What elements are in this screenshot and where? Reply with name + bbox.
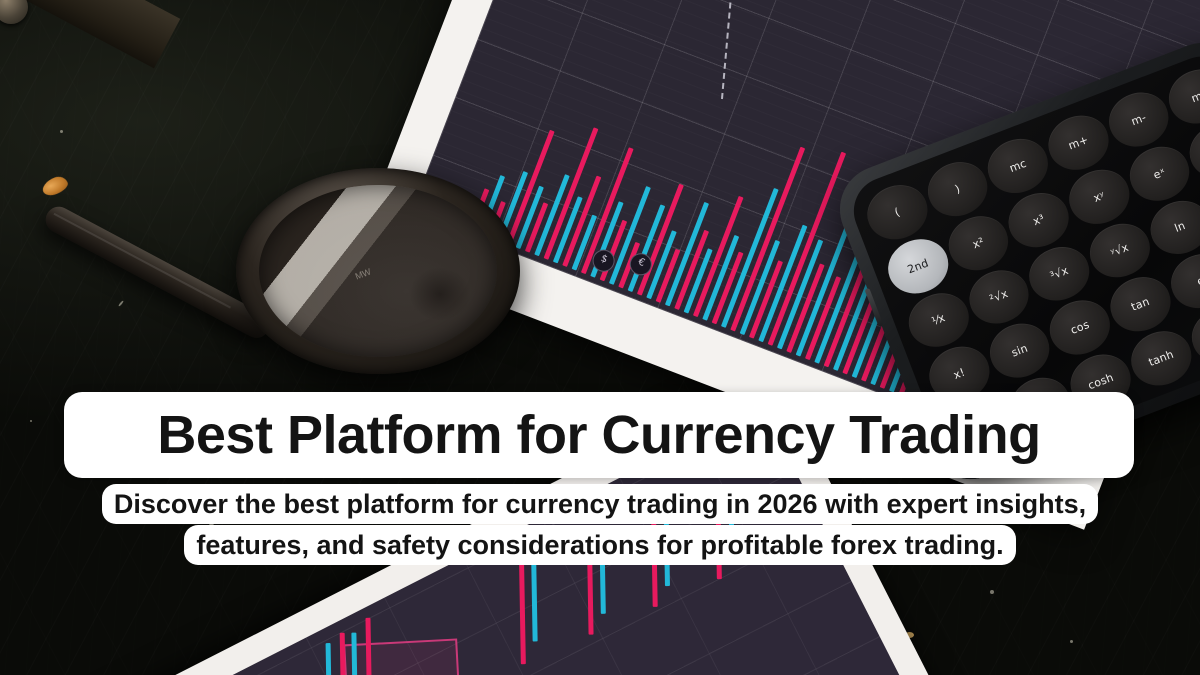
title-card: Best Platform for Currency Trading — [64, 392, 1134, 478]
speck — [60, 130, 63, 133]
calculator-key[interactable]: sin — [982, 315, 1058, 386]
calculator-key[interactable]: cos — [1042, 292, 1118, 363]
calculator-key[interactable]: ²√x — [961, 261, 1037, 332]
page-title: Best Platform for Currency Trading — [157, 404, 1040, 466]
calculator-key[interactable]: x² — [941, 207, 1017, 278]
calculator-key[interactable]: tanh — [1123, 323, 1199, 394]
calculator-key[interactable]: ³√x — [1022, 238, 1098, 309]
calculator-key[interactable]: ( — [859, 177, 935, 248]
calculator-key[interactable]: mc — [980, 130, 1056, 201]
magnifying-glass-icon: MW — [236, 168, 520, 376]
calculator-key[interactable]: ʸ√x — [1082, 215, 1158, 286]
chart-selection-box — [343, 638, 462, 675]
calculator-key[interactable]: ¹⁄x — [901, 285, 977, 356]
calculator-key[interactable]: ln — [1142, 192, 1200, 263]
calculator-key[interactable]: m- — [1101, 84, 1177, 155]
subtitle-block: Discover the best platform for currency … — [90, 486, 1110, 568]
magnifier-lens: MW — [259, 185, 497, 357]
calculator-key[interactable]: m+ — [1041, 107, 1117, 178]
speck — [1070, 640, 1073, 643]
speck — [990, 590, 994, 594]
calculator-key[interactable]: x³ — [1001, 184, 1077, 255]
background-photo: 95.50 96.00 96.50 97.00 15 — [0, 0, 1200, 675]
calculator-key[interactable]: ) — [920, 153, 996, 224]
speck — [30, 420, 32, 422]
calculator-key[interactable]: 2nd — [880, 231, 956, 302]
promo-banner: 95.50 96.00 96.50 97.00 15 — [0, 0, 1200, 675]
page-subtitle: Discover the best platform for currency … — [102, 484, 1098, 565]
calculator-key[interactable]: eˣ — [1122, 138, 1198, 209]
calculator-key[interactable]: xʸ — [1061, 161, 1137, 232]
calculator-key[interactable]: tan — [1103, 269, 1179, 340]
